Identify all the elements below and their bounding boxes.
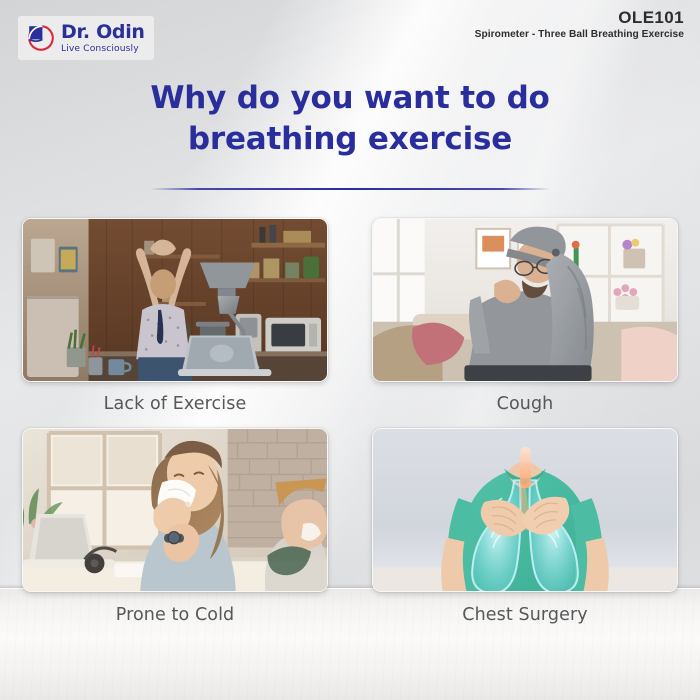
woman-stretching-at-laptop-in-kitchen-image [22,218,328,382]
reason-card-grid: Lack of Exercise [22,218,678,625]
reason-card-lack-of-exercise: Lack of Exercise [22,218,328,414]
reason-caption: Cough [372,394,678,414]
page-title-line-2: breathing exercise [0,119,700,160]
page-title: Why do you want to do breathing exercise [0,78,700,160]
poster-canvas: Dr. Odin Live Consciously OLE101 Spirome… [0,0,700,700]
sku-code: OLE101 [475,8,684,28]
man-coughing-wrapped-in-blanket-image [372,218,678,382]
person-in-scrubs-with-glowing-lungs-image [372,428,678,592]
sku-subtitle: Spirometer - Three Ball Breathing Exerci… [475,29,684,40]
reason-card-prone-to-cold: Prone to Cold [22,428,328,625]
page-title-line-1: Why do you want to do [150,80,549,116]
woman-sneezing-into-tissue-at-desk-image [22,428,328,592]
brand-tagline: Live Consciously [61,44,145,53]
dr-odin-circle-logo-icon [26,23,56,53]
reason-card-chest-surgery: Chest Surgery [372,428,678,625]
reason-caption: Lack of Exercise [22,394,328,414]
header: Dr. Odin Live Consciously OLE101 Spirome… [0,0,700,72]
brand-name: Dr. Odin [61,23,145,42]
title-divider [150,188,550,190]
brand-logo: Dr. Odin Live Consciously [18,16,154,60]
sku-block: OLE101 Spirometer - Three Ball Breathing… [475,8,684,40]
reason-caption: Chest Surgery [372,605,678,625]
reason-caption: Prone to Cold [22,605,328,625]
reason-card-cough: Cough [372,218,678,414]
